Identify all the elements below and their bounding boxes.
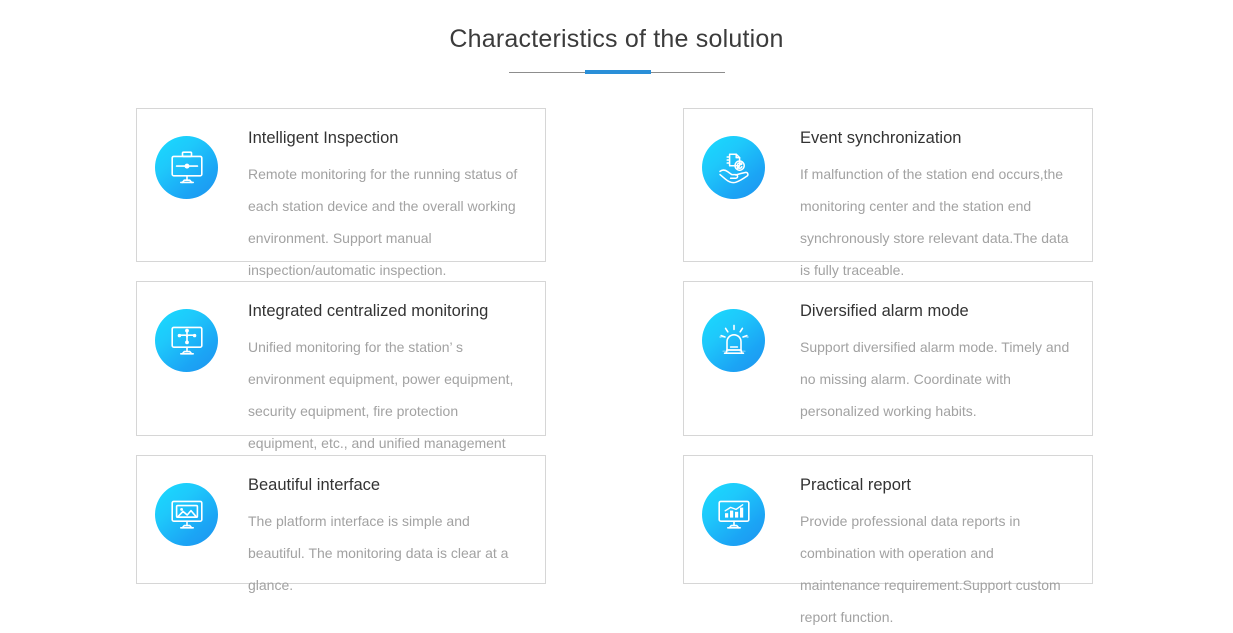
monitor-chart-report-icon [702,483,765,546]
feature-card-diversified-alarm-mode[interactable]: Diversified alarm mode Support diversifi… [683,281,1093,436]
monitor-image-icon [155,483,218,546]
card-description: The platform interface is simple and bea… [248,505,529,601]
feature-card-intelligent-inspection[interactable]: Intelligent Inspection Remote monitoring… [136,108,546,262]
feature-cards-grid: Intelligent Inspection Remote monitoring… [136,108,1093,584]
feature-card-beautiful-interface[interactable]: Beautiful interface The platform interfa… [136,455,546,584]
feature-card-event-synchronization[interactable]: Event synchronization If malfunction of … [683,108,1093,262]
card-text-block: Event synchronization If malfunction of … [765,127,1076,286]
card-row: Integrated centralized monitoring Unifie… [136,281,1093,436]
card-text-block: Intelligent Inspection Remote monitoring… [218,127,529,286]
card-text-block: Practical report Provide professional da… [765,474,1076,633]
monitor-centralized-icon [155,309,218,372]
card-text-block: Diversified alarm mode Support diversifi… [765,300,1076,427]
card-title: Practical report [800,474,1076,496]
card-row: Beautiful interface The platform interfa… [136,455,1093,584]
card-description: If malfunction of the station end occurs… [800,158,1076,286]
feature-card-integrated-centralized-monitoring[interactable]: Integrated centralized monitoring Unifie… [136,281,546,436]
title-divider-accent [585,70,651,74]
card-row: Intelligent Inspection Remote monitoring… [136,108,1093,262]
card-text-block: Beautiful interface The platform interfa… [218,474,529,601]
hand-document-sync-icon [702,136,765,199]
page-header: Characteristics of the solution [0,0,1233,78]
card-description: Support diversified alarm mode. Timely a… [800,331,1076,427]
card-title: Intelligent Inspection [248,127,529,149]
alarm-siren-icon [702,309,765,372]
card-title: Integrated centralized monitoring [248,300,529,322]
page-title: Characteristics of the solution [0,22,1233,56]
card-description: Remote monitoring for the running status… [248,158,529,286]
card-description: Provide professional data reports in com… [800,505,1076,633]
title-divider [509,68,725,78]
card-title: Beautiful interface [248,474,529,496]
monitor-inspection-icon [155,136,218,199]
card-title: Event synchronization [800,127,1076,149]
card-title: Diversified alarm mode [800,300,1076,322]
feature-card-practical-report[interactable]: Practical report Provide professional da… [683,455,1093,584]
